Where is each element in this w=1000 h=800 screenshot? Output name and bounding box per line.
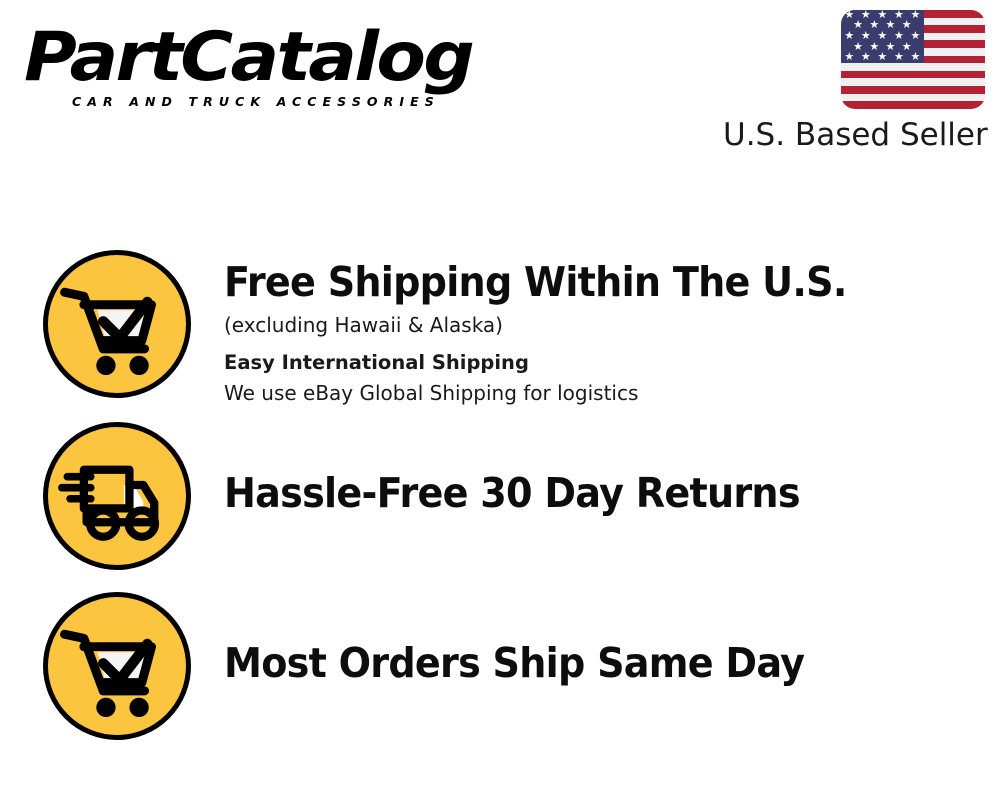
- feature-text: Hassle-Free 30 Day Returns: [224, 422, 984, 517]
- feature-row: Most Orders Ship Same Day: [0, 592, 1000, 742]
- delivery-truck-icon: [43, 422, 191, 570]
- feature-text: Free Shipping Within The U.S. (excluding…: [224, 250, 984, 408]
- feature-subline-bold: Easy International Shipping: [224, 347, 984, 378]
- feature-row: Hassle-Free 30 Day Returns: [0, 422, 1000, 570]
- feature-subline: (excluding Hawaii & Alaska): [224, 310, 984, 340]
- feature-subline: We use eBay Global Shipping for logistic…: [224, 378, 984, 408]
- feature-headline: Hassle-Free 30 Day Returns: [224, 469, 931, 517]
- shopping-cart-check-icon: [43, 250, 191, 398]
- feature-list: Free Shipping Within The U.S. (excluding…: [0, 0, 1000, 800]
- promo-banner: PartCatalog CAR AND TRUCK ACCESSORIES ★★…: [0, 0, 1000, 800]
- shopping-cart-check-icon: [43, 592, 191, 740]
- feature-headline: Free Shipping Within The U.S.: [224, 258, 931, 306]
- feature-headline: Most Orders Ship Same Day: [224, 639, 931, 687]
- feature-text: Most Orders Ship Same Day: [224, 592, 984, 687]
- feature-row: Free Shipping Within The U.S. (excluding…: [0, 250, 1000, 400]
